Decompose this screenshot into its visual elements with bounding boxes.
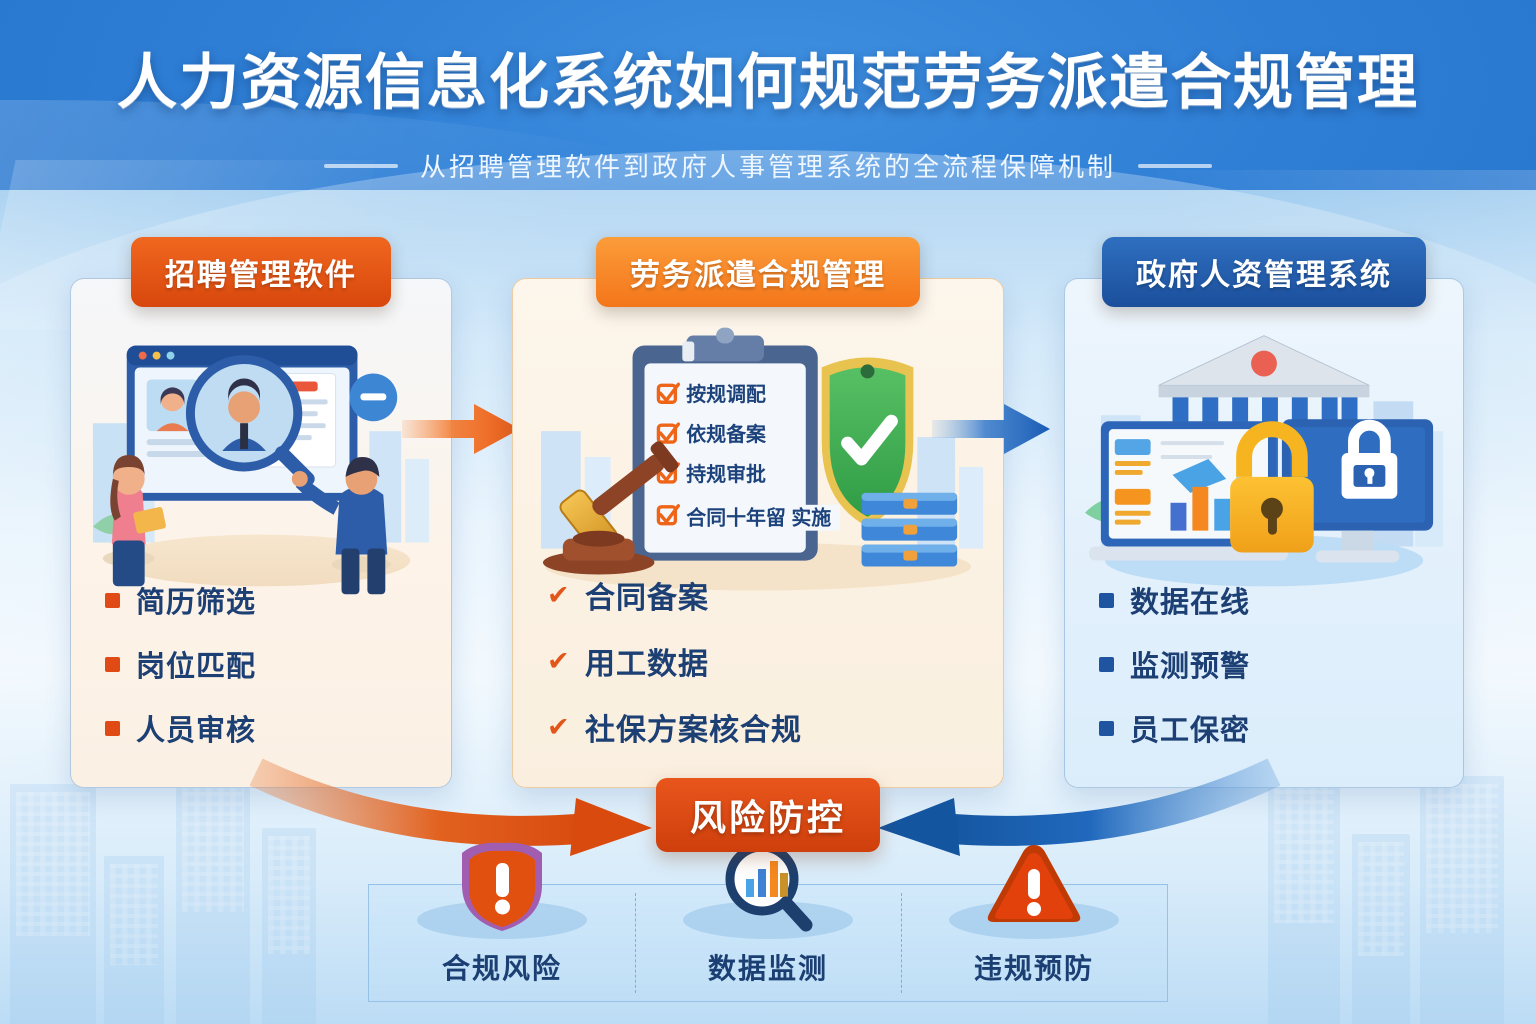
- checklist-text-1: 按规调配: [686, 382, 766, 406]
- bottom-item-label: 合规风险: [442, 947, 562, 987]
- card-government-hr[interactable]: 政府人资管理系统: [1064, 278, 1464, 788]
- list-item[interactable]: 员工保密: [1099, 707, 1443, 749]
- bullet-square-icon: [1099, 593, 1114, 608]
- bullet-square-icon: [105, 593, 120, 608]
- list-item[interactable]: 人员审核: [105, 707, 431, 749]
- list-item[interactable]: 岗位匹配: [105, 643, 431, 685]
- bottom-item-compliance-risk[interactable]: 合规风险: [369, 885, 635, 1001]
- magnifier-chart-icon: [718, 841, 818, 933]
- bullet-square-icon: [1099, 721, 1114, 736]
- bullet-label: 监测预警: [1130, 643, 1250, 685]
- recruiting-screen-illustration: [85, 327, 437, 595]
- bottom-panel: 合规风险 数据监测: [368, 884, 1168, 1002]
- list-item[interactable]: ✔ 合同备案: [547, 573, 983, 617]
- bullet-label: 员工保密: [1130, 707, 1250, 749]
- infographic-canvas: 人力资源信息化系统如何规范劳务派遣合规管理 从招聘管理软件到政府人事管理系统的全…: [0, 0, 1536, 1024]
- bullet-label: 合同备案: [585, 573, 709, 617]
- checklist-text-4: 合同十年留 实施: [686, 506, 831, 530]
- bullet-label: 简历筛选: [136, 579, 256, 621]
- card-recruitment[interactable]: 招聘管理软件: [70, 278, 452, 788]
- arrow-card1-to-card2: [400, 398, 522, 460]
- list-item[interactable]: 数据在线: [1099, 579, 1443, 621]
- bullet-label: 岗位匹配: [136, 643, 256, 685]
- bottom-item-label: 违规预防: [974, 947, 1094, 987]
- check-icon: ✔: [547, 648, 569, 675]
- bullet-label: 数据在线: [1130, 579, 1250, 621]
- subtitle-dash-left: [324, 164, 398, 168]
- check-icon: ✔: [547, 714, 569, 741]
- list-item[interactable]: 简历筛选: [105, 579, 431, 621]
- government-data-security-illustration: [1079, 327, 1449, 595]
- list-item[interactable]: ✔ 社保方案核合规: [547, 705, 983, 749]
- header: 人力资源信息化系统如何规范劳务派遣合规管理 从招聘管理软件到政府人事管理系统的全…: [0, 34, 1536, 184]
- clipboard-gavel-shield-illustration: 按规调配 依规备案 持规审批 合同十年留 实施: [527, 327, 989, 595]
- subtitle-row: 从招聘管理软件到政府人事管理系统的全流程保障机制: [0, 147, 1536, 184]
- check-icon: ✔: [547, 582, 569, 609]
- list-item[interactable]: 监测预警: [1099, 643, 1443, 685]
- card-recruitment-bullets: 简历筛选 岗位匹配 人员审核: [105, 579, 431, 749]
- shield-alert-icon: [452, 841, 552, 933]
- card-dispatch-title: 劳务派遣合规管理: [596, 237, 920, 307]
- card-dispatch-bullets: ✔ 合同备案 ✔ 用工数据 ✔ 社保方案核合规: [547, 573, 983, 749]
- list-item[interactable]: ✔ 用工数据: [547, 639, 983, 683]
- bullet-label: 用工数据: [585, 639, 709, 683]
- card-recruitment-title: 招聘管理软件: [131, 237, 391, 307]
- bullet-square-icon: [105, 721, 120, 736]
- page-title: 人力资源信息化系统如何规范劳务派遣合规管理: [0, 34, 1536, 121]
- risk-control-banner[interactable]: 风险防控: [656, 778, 880, 852]
- bottom-item-data-monitoring[interactable]: 数据监测: [635, 885, 901, 1001]
- bottom-item-violation-prevention[interactable]: 违规预防: [901, 885, 1167, 1001]
- checklist-text-3: 持规审批: [686, 462, 766, 486]
- checklist-text-2: 依规备案: [686, 422, 767, 446]
- bullet-square-icon: [105, 657, 120, 672]
- warning-triangle-icon: [984, 841, 1084, 933]
- card-government-title: 政府人资管理系统: [1102, 237, 1426, 307]
- page-subtitle: 从招聘管理软件到政府人事管理系统的全流程保障机制: [420, 147, 1116, 184]
- card-government-bullets: 数据在线 监测预警 员工保密: [1099, 579, 1443, 749]
- card-dispatch-compliance[interactable]: 劳务派遣合规管理: [512, 278, 1004, 788]
- bottom-item-label: 数据监测: [708, 947, 828, 987]
- bullet-label: 人员审核: [136, 707, 256, 749]
- arrow-card2-to-card3: [930, 398, 1052, 460]
- bullet-label: 社保方案核合规: [585, 705, 802, 749]
- subtitle-dash-right: [1138, 164, 1212, 168]
- bullet-square-icon: [1099, 657, 1114, 672]
